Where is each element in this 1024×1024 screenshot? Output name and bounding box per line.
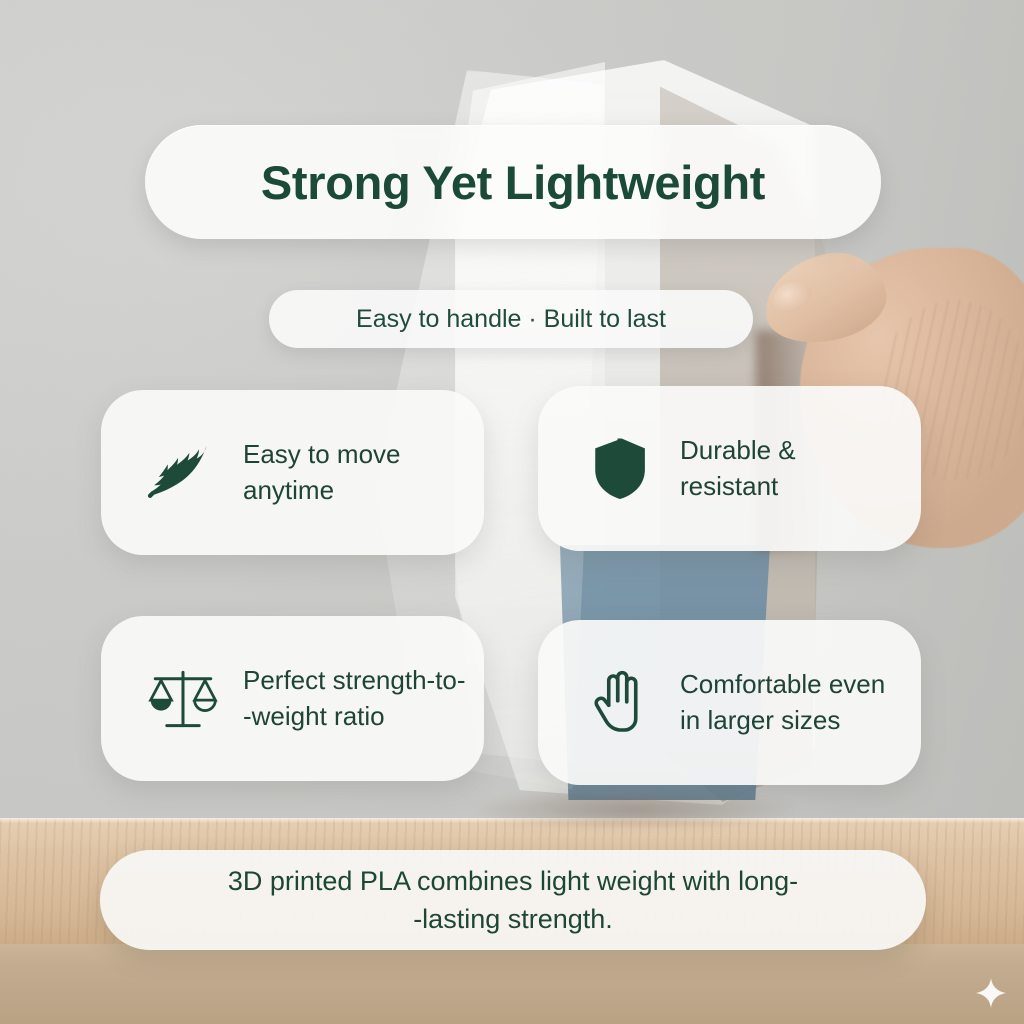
feature-card-label: Durable & resistant: [680, 433, 921, 505]
page-subtitle: Easy to handle · Built to last: [356, 305, 666, 334]
feature-card-label: Comfortable even in larger sizes: [680, 667, 921, 739]
feature-card-easy-to-move[interactable]: Easy to move anytime: [101, 390, 484, 555]
object-contact-shadow: [470, 792, 800, 828]
feather-icon: [145, 435, 221, 511]
feature-card-durable[interactable]: Durable & resistant: [538, 386, 921, 551]
shelf-front-face: [0, 944, 1024, 1024]
feature-card-label: Perfect strength-to- -weight ratio: [243, 663, 484, 735]
infographic-stage: Strong Yet Lightweight Easy to handle · …: [0, 0, 1024, 1024]
open-hand-icon: [582, 665, 658, 741]
feature-card-comfortable[interactable]: Comfortable even in larger sizes: [538, 620, 921, 785]
subtitle-pill: Easy to handle · Built to last: [269, 290, 753, 348]
title-pill: Strong Yet Lightweight: [145, 125, 881, 239]
shield-icon: [582, 431, 658, 507]
balance-scale-icon: [145, 661, 221, 737]
feature-card-label: Easy to move anytime: [243, 437, 484, 509]
footer-caption: 3D printed PLA combines light weight wit…: [192, 862, 834, 939]
sparkle-icon: [976, 978, 1006, 1008]
feature-card-strength-to-weight[interactable]: Perfect strength-to- -weight ratio: [101, 616, 484, 781]
footer-caption-pill: 3D printed PLA combines light weight wit…: [100, 850, 926, 950]
page-title: Strong Yet Lightweight: [261, 155, 765, 210]
